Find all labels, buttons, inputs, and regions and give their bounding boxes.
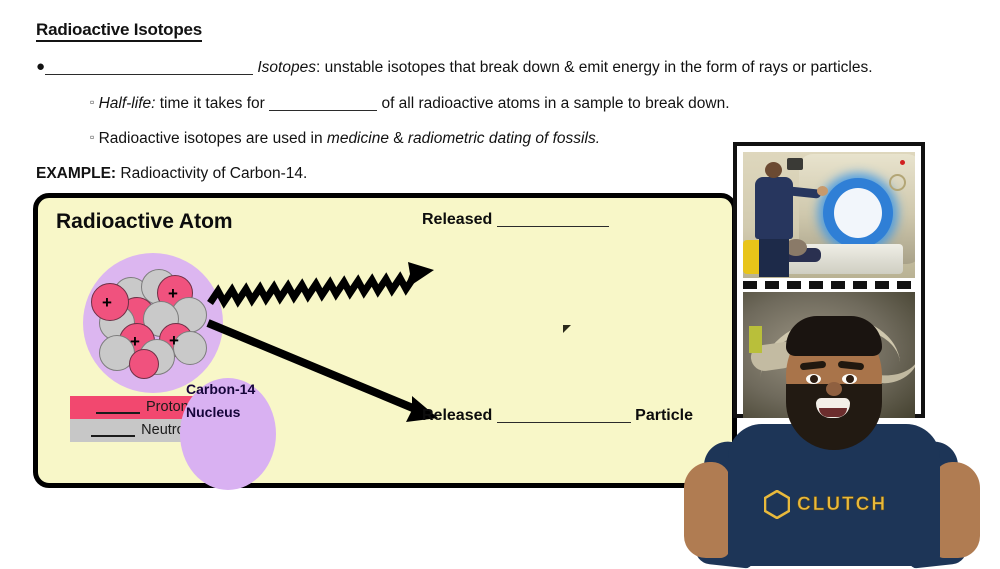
dashed-divider — [743, 281, 915, 289]
bullet-line-2: ▫ Half-life: time it takes for of all ra… — [90, 96, 730, 112]
bullet2-pre: time it takes for — [155, 95, 269, 112]
bullet3-italic-dating: radiometric dating of fossils. — [408, 130, 600, 147]
instructor-hair — [786, 316, 882, 356]
cursor-artifact — [563, 325, 571, 333]
released-particle-blank[interactable] — [497, 422, 631, 423]
particle-arrow-line — [208, 323, 420, 411]
square-bullet-icon: ▫ — [90, 130, 94, 144]
instructor-pupil — [846, 375, 854, 383]
bullet1-term: Isotopes — [257, 59, 316, 76]
bullet-dot-icon: ● — [36, 58, 45, 75]
technician-legs — [759, 237, 789, 277]
lecture-slide: Radioactive Isotopes ● Isotopes: unstabl… — [0, 0, 1000, 562]
bullet1-rest: : unstable isotopes that break down & em… — [316, 59, 873, 76]
ct-brand-badge — [889, 174, 906, 191]
instructor-pupil — [810, 375, 818, 383]
example-text: Radioactivity of Carbon-14. — [116, 165, 307, 182]
page-title: Radioactive Isotopes — [36, 20, 202, 40]
instructor-nose — [826, 382, 842, 396]
released-particle-label: Released Particle — [422, 407, 693, 425]
technician-hand — [817, 186, 828, 196]
square-bullet-icon: ▫ — [90, 95, 94, 109]
bullet3-italic-medicine: medicine — [327, 130, 389, 147]
ct-bore-glow — [823, 178, 893, 248]
fill-in-blank-1[interactable] — [45, 74, 253, 75]
clutch-brand-logo: CLUTCH — [764, 490, 887, 519]
ct-panel — [787, 158, 803, 170]
fill-in-blank-2[interactable] — [269, 110, 377, 111]
bullet2-post: of all radioactive atoms in a sample to … — [377, 95, 729, 112]
emission-arrows — [38, 198, 742, 493]
radioactive-atom-diagram: Radioactive Atom + + + + Ca — [33, 193, 737, 488]
bullet2-term: Half-life: — [99, 95, 156, 112]
bullet3-pre: Radioactive isotopes are used in — [94, 130, 327, 147]
instructor-left-hand — [684, 462, 730, 558]
released-gamma-text: Released — [422, 211, 497, 228]
technician-scrubs — [755, 177, 793, 239]
technician-head — [765, 162, 782, 178]
ct-scanner-photo — [743, 152, 915, 278]
ct-indicator-light-icon — [900, 160, 905, 165]
bullet3-mid: & — [389, 130, 408, 147]
ct-bore-inner — [834, 188, 882, 238]
released-gamma-label: Released — [422, 211, 609, 229]
instructor-video-overlay: CLUTCH — [676, 338, 1000, 562]
example-line: EXAMPLE: Radioactivity of Carbon-14. — [36, 166, 307, 182]
gamma-arrow-head — [404, 262, 434, 290]
bullet-line-3: ▫ Radioactive isotopes are used in medic… — [90, 131, 600, 147]
example-label: EXAMPLE: — [36, 165, 116, 182]
hexagon-icon — [764, 490, 790, 519]
page-title-text: Radioactive Isotopes — [36, 20, 202, 42]
released-gamma-blank[interactable] — [497, 226, 609, 227]
clutch-logo-text: CLUTCH — [797, 494, 887, 516]
released-particle-pre: Released — [422, 407, 497, 424]
bullet-line-1: ● Isotopes: unstable isotopes that break… — [36, 60, 873, 76]
instructor-right-hand — [934, 462, 980, 558]
gamma-ray-zigzag-arrow — [210, 277, 414, 303]
